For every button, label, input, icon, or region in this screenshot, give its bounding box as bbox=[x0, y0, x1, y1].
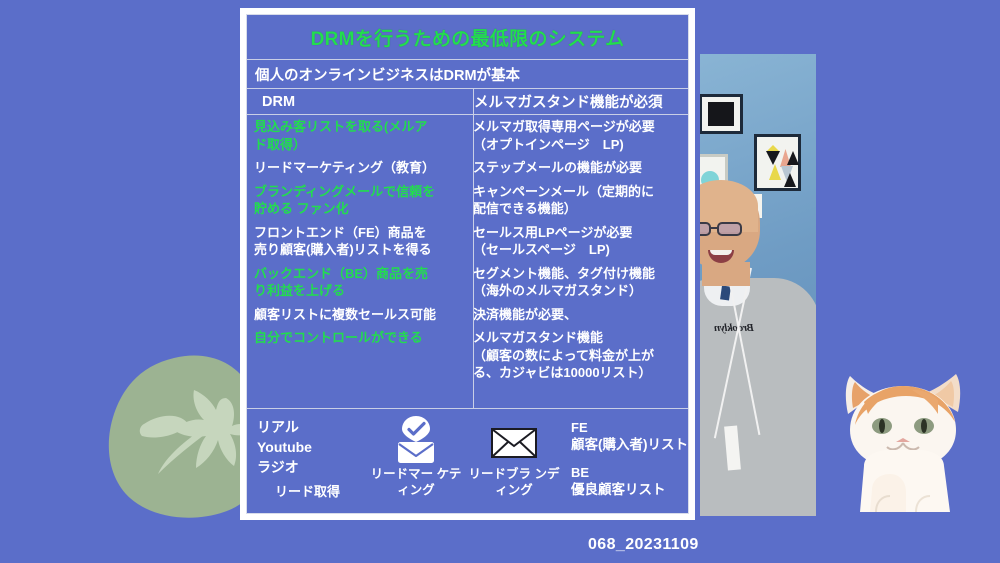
slide-title: DRMを行うための最低限のシステム bbox=[247, 15, 688, 60]
table-row: ブランディングメールで信頼を 貯める ファン化 bbox=[247, 180, 466, 221]
table-row: 自分でコントロールができる bbox=[247, 326, 466, 350]
table-column-drm: DRM 見込み客リストを取る(メルア ド取得） リードマーケティング（教育） ブ… bbox=[247, 89, 466, 408]
table-row: キャンペーンメール（定期的に 配信できる機能） bbox=[466, 180, 688, 221]
envelope-outline-icon bbox=[489, 415, 539, 463]
webcam-video-panel: Brooklyn bbox=[700, 54, 816, 516]
glasses-icon bbox=[700, 222, 750, 236]
source-item: ラジオ bbox=[257, 457, 367, 477]
step-caption: リードブラ ンディング bbox=[465, 466, 563, 498]
table-row: メルマガスタンド機能 （顧客の数によって料金が上が る、カジャビは10000リス… bbox=[466, 326, 688, 385]
step-caption: リードマー ケティング bbox=[367, 466, 465, 498]
sources-caption: リード取得 bbox=[257, 481, 367, 500]
outcome-be: BE 優良顧客リスト bbox=[571, 464, 688, 499]
table-row: セグメント機能、タグ付け機能 （海外のメルマガスタンド） bbox=[466, 262, 688, 303]
cat-cutout-image bbox=[820, 362, 985, 517]
outcome-key: BE bbox=[571, 464, 688, 481]
flow-step-branding: リードブラ ンディング bbox=[465, 409, 563, 513]
wall-art-3 bbox=[754, 134, 801, 191]
table-row: ステップメールの機能が必要 bbox=[466, 156, 688, 180]
comparison-table: DRM 見込み客リストを取る(メルア ド取得） リードマーケティング（教育） ブ… bbox=[247, 89, 688, 408]
funnel-flow-strip: リアル Youtube ラジオ リード取得 リードマー ケティング bbox=[247, 408, 688, 513]
outcome-fe: FE 顧客(購入者)リスト bbox=[571, 419, 688, 454]
column-header-mailstand: メルマガスタンド機能が必須 bbox=[466, 89, 688, 115]
slide-content: DRMを行うための最低限のシステム 個人のオンラインビジネスはDRMが基本 DR… bbox=[246, 14, 689, 514]
table-row: リードマーケティング（教育） bbox=[247, 156, 466, 180]
table-row: セールス用LPページが必要 （セールスページ LP) bbox=[466, 221, 688, 262]
flow-step-marketing: リードマー ケティング bbox=[367, 409, 465, 513]
presenter-body bbox=[700, 278, 816, 516]
column-header-drm: DRM bbox=[247, 89, 466, 115]
outcome-value: 優良顧客リスト bbox=[571, 481, 688, 499]
flow-outcomes: FE 顧客(購入者)リスト BE 優良顧客リスト bbox=[563, 409, 688, 513]
sweater-logo-text: Brooklyn bbox=[700, 322, 754, 338]
table-row: バックエンド（BE）商品を売 り利益を上げる bbox=[247, 262, 466, 303]
table-row: メルマガ取得専用ページが必要 （オプトインページ LP) bbox=[466, 115, 688, 156]
table-row: 顧客リストに複数セールス可能 bbox=[247, 303, 466, 327]
slide-subtitle: 個人のオンラインビジネスはDRMが基本 bbox=[247, 60, 688, 89]
source-item: リアル bbox=[257, 417, 367, 437]
outcome-value: 顧客(購入者)リスト bbox=[571, 436, 688, 454]
footer-code: 068_20231109 bbox=[588, 536, 699, 554]
table-column-mailstand: メルマガスタンド機能が必須 メルマガ取得専用ページが必要 （オプトインページ L… bbox=[466, 89, 688, 408]
source-item: Youtube bbox=[257, 437, 367, 457]
outcome-key: FE bbox=[571, 419, 688, 436]
envelope-check-icon bbox=[393, 415, 439, 463]
table-row: 見込み客リストを取る(メルア ド取得） bbox=[247, 115, 466, 156]
flow-sources: リアル Youtube ラジオ リード取得 bbox=[247, 409, 367, 513]
table-row: 決済機能が必要、 bbox=[466, 303, 688, 327]
slide-frame: DRMを行うための最低限のシステム 個人のオンラインビジネスはDRMが基本 DR… bbox=[240, 8, 695, 520]
wall-art-1 bbox=[700, 94, 743, 134]
table-row: フロントエンド（FE）商品を 売り顧客(購入者)リストを得る bbox=[247, 221, 466, 262]
